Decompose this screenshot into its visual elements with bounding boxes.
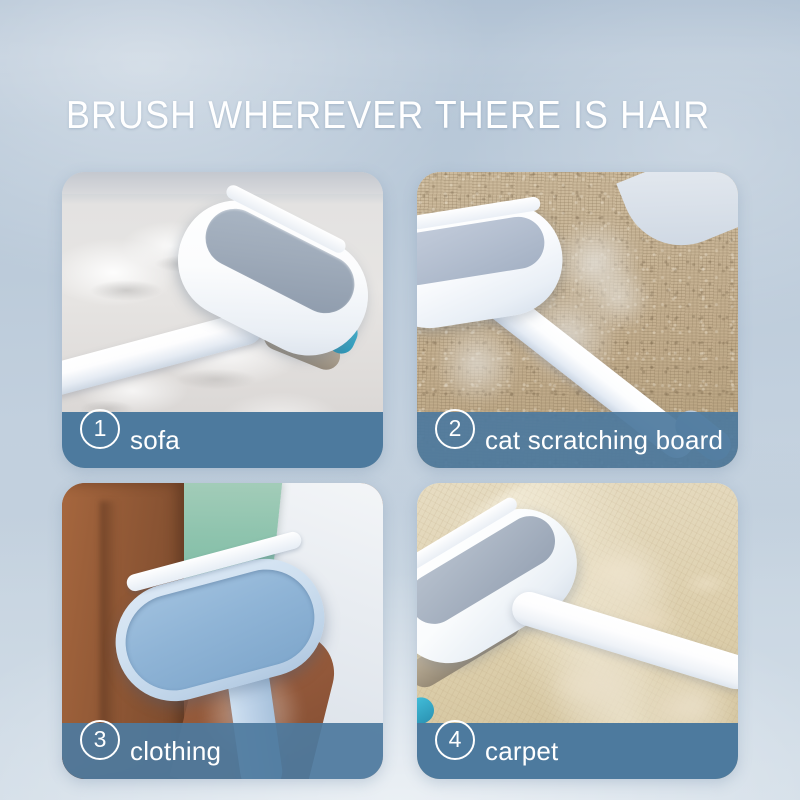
caption-label: cat scratching board	[485, 425, 723, 455]
caption-label: clothing	[130, 736, 221, 766]
feature-panel-cat-scratching-board[interactable]: cat scratching board 2	[417, 172, 738, 468]
hair-tuft	[431, 324, 523, 404]
feature-panel-carpet[interactable]: carpet 4	[417, 483, 738, 779]
panel-row-1: sofa 1	[62, 172, 738, 468]
sofa-backdrop-strip	[62, 172, 383, 194]
panel-grid: sofa 1	[62, 172, 738, 779]
feature-panel-clothing[interactable]: clothing 3	[62, 483, 383, 779]
step-badge-1: 1	[80, 409, 120, 449]
caption-label: carpet	[485, 736, 558, 766]
product-feature-poster: BRUSH WHEREVER THERE IS HAIR	[0, 0, 800, 800]
page-title: BRUSH WHEREVER THERE IS HAIR	[66, 94, 710, 138]
caption-label: sofa	[130, 425, 180, 455]
panel-row-2: clothing 3	[62, 483, 738, 779]
step-badge-3: 3	[80, 720, 120, 760]
step-badge-4: 4	[435, 720, 475, 760]
hair-tuft	[583, 266, 655, 330]
feature-panel-sofa[interactable]: sofa 1	[62, 172, 383, 468]
step-badge-2: 2	[435, 409, 475, 449]
